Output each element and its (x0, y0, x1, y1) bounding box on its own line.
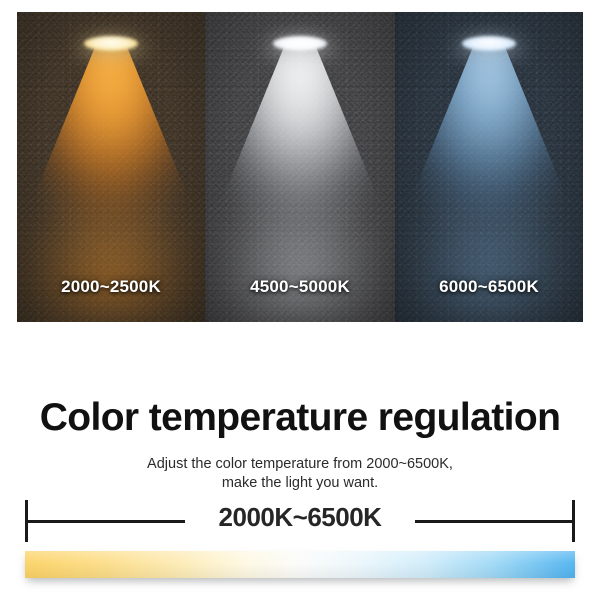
color-temperature-gradient-bar (25, 551, 575, 578)
page-subtitle: Adjust the color temperature from 2000~6… (0, 455, 600, 492)
measure-rule-right (415, 520, 573, 523)
temperature-range-measure: 2000K~6500K (25, 500, 575, 542)
gradient-sheen (25, 551, 575, 578)
measure-cap-right (572, 500, 575, 542)
page-title: Color temperature regulation (0, 398, 600, 437)
measure-range-label: 2000K~6500K (25, 502, 575, 533)
color-temperature-photo-strip: 2000~2500K 4500~5000K 6000~6500K (17, 12, 583, 322)
vignette-neutral (205, 12, 395, 322)
vignette-warm (17, 12, 205, 322)
panel-label-neutral: 4500~5000K (205, 277, 395, 297)
subtitle-line-2: make the light you want. (0, 474, 600, 493)
panel-neutral-4500-5000k: 4500~5000K (205, 12, 395, 322)
vignette-cool (395, 12, 583, 322)
panel-warm-2000-2500k: 2000~2500K (17, 12, 205, 322)
subtitle-line-1: Adjust the color temperature from 2000~6… (0, 455, 600, 474)
panel-label-warm: 2000~2500K (17, 277, 205, 297)
panel-cool-6000-6500k: 6000~6500K (395, 12, 583, 322)
panel-label-cool: 6000~6500K (395, 277, 583, 297)
